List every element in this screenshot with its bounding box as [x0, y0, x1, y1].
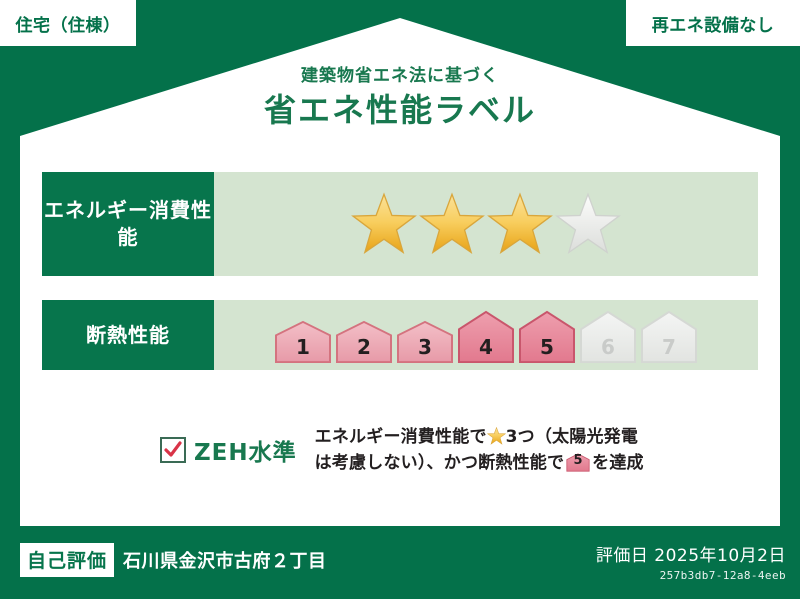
zeh-label: ZEH水準 — [194, 433, 297, 467]
star-rating — [351, 192, 621, 256]
zeh-description-line-1: エネルギー消費性能で 3つ（太陽光発電 — [315, 424, 644, 450]
badge-renewable-energy-text: 再エネ設備なし — [652, 11, 775, 36]
check-icon — [164, 441, 182, 459]
evaluation-id: 257b3db7-12a8-4eeb — [596, 569, 786, 582]
zeh-desc-text-1a: エネルギー消費性能で — [315, 427, 487, 447]
star-icon-filled — [487, 192, 553, 256]
energy-performance-label: 住宅（住棟） 再エネ設備なし 建築物省エネ法に基づく 省エネ性能ラベル エネルギ… — [0, 0, 800, 599]
energy-performance-label-text: エネルギー消費性能 — [42, 197, 214, 251]
zeh-description: エネルギー消費性能で 3つ（太陽光発電 は考慮しない）、かつ断熱性能で 5 — [315, 424, 644, 477]
energy-performance-value — [214, 172, 758, 276]
insulation-level-2: 2 — [335, 320, 393, 364]
evaluation-type-badge: 自己評価 — [20, 543, 114, 577]
insulation-level-4: 4 — [457, 310, 515, 364]
zeh-tag: ZEH水準 — [160, 433, 297, 467]
insulation-level-5-number: 5 — [518, 335, 576, 359]
badge-building-type: 住宅（住棟） — [0, 0, 136, 46]
evaluation-address: 石川県金沢市古府２丁目 — [123, 547, 327, 573]
zeh-desc-text-2a: は考慮しない）、かつ断熱性能で — [315, 453, 565, 473]
footer-left: 自己評価 石川県金沢市古府２丁目 — [20, 543, 327, 577]
zeh-desc-text-2b: を達成 — [592, 453, 644, 473]
star-icon-filled — [419, 192, 485, 256]
footer: 自己評価 石川県金沢市古府２丁目 評価日 2025年10月2日 257b3db7… — [0, 533, 800, 599]
zeh-desc-text-1b: 3つ（太陽光発電 — [506, 427, 638, 447]
insulation-level-scale: 1 2 — [274, 300, 698, 370]
zeh-section: ZEH水準 エネルギー消費性能で 3つ（太陽光発電 は考慮しない）、かつ断熱性能… — [160, 424, 760, 477]
star-icon-filled — [351, 192, 417, 256]
energy-performance-label: エネルギー消費性能 — [42, 172, 214, 276]
insulation-level-badge-inline-number: 5 — [566, 451, 590, 471]
badge-building-type-text: 住宅（住棟） — [16, 11, 121, 36]
footer-right: 評価日 2025年10月2日 257b3db7-12a8-4eeb — [596, 541, 786, 582]
evaluation-date: 評価日 2025年10月2日 — [596, 541, 786, 566]
insulation-performance-label-text: 断熱性能 — [86, 322, 170, 349]
insulation-level-7: 7 — [640, 310, 698, 364]
page-title: 省エネ性能ラベル — [0, 90, 800, 130]
insulation-performance-value: 1 2 — [214, 300, 758, 370]
energy-performance-row: エネルギー消費性能 — [42, 172, 758, 276]
insulation-level-1-number: 1 — [274, 335, 332, 359]
insulation-performance-row: 断熱性能 1 — [42, 300, 758, 370]
insulation-level-3-number: 3 — [396, 335, 454, 359]
zeh-checkbox[interactable] — [160, 437, 186, 463]
star-icon-inline — [487, 427, 506, 445]
insulation-level-7-number: 7 — [640, 335, 698, 359]
zeh-description-line-2: は考慮しない）、かつ断熱性能で 5 を達成 — [315, 450, 644, 476]
insulation-level-2-number: 2 — [335, 335, 393, 359]
insulation-performance-label: 断熱性能 — [42, 300, 214, 370]
insulation-level-6-number: 6 — [579, 335, 637, 359]
page-subtitle: 建築物省エネ法に基づく — [0, 66, 800, 86]
insulation-level-5: 5 — [518, 310, 576, 364]
star-icon-empty — [555, 192, 621, 256]
badge-renewable-energy: 再エネ設備なし — [626, 0, 800, 46]
insulation-level-4-number: 4 — [457, 335, 515, 359]
insulation-level-badge-inline: 5 — [566, 453, 590, 472]
insulation-level-6: 6 — [579, 310, 637, 364]
title-block: 建築物省エネ法に基づく 省エネ性能ラベル — [0, 66, 800, 130]
insulation-level-3: 3 — [396, 320, 454, 364]
insulation-level-1: 1 — [274, 320, 332, 364]
